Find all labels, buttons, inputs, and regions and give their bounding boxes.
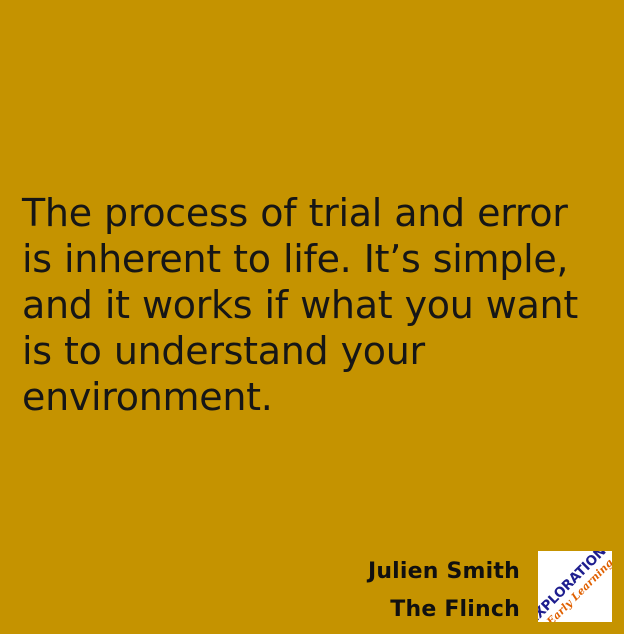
attribution-author: Julien Smith <box>190 553 520 591</box>
quote-text: The process of trial and error is inhere… <box>22 190 602 420</box>
explorations-early-learning-logo: EXPLORATIONS Early Learning <box>538 551 612 622</box>
attribution-source: The Flinch <box>190 591 520 629</box>
quote-block: The process of trial and error is inhere… <box>22 190 602 420</box>
attribution-block: Julien Smith The Flinch <box>190 553 520 629</box>
logo-inner: EXPLORATIONS Early Learning <box>538 551 612 622</box>
quote-poster: The process of trial and error is inhere… <box>0 0 624 634</box>
